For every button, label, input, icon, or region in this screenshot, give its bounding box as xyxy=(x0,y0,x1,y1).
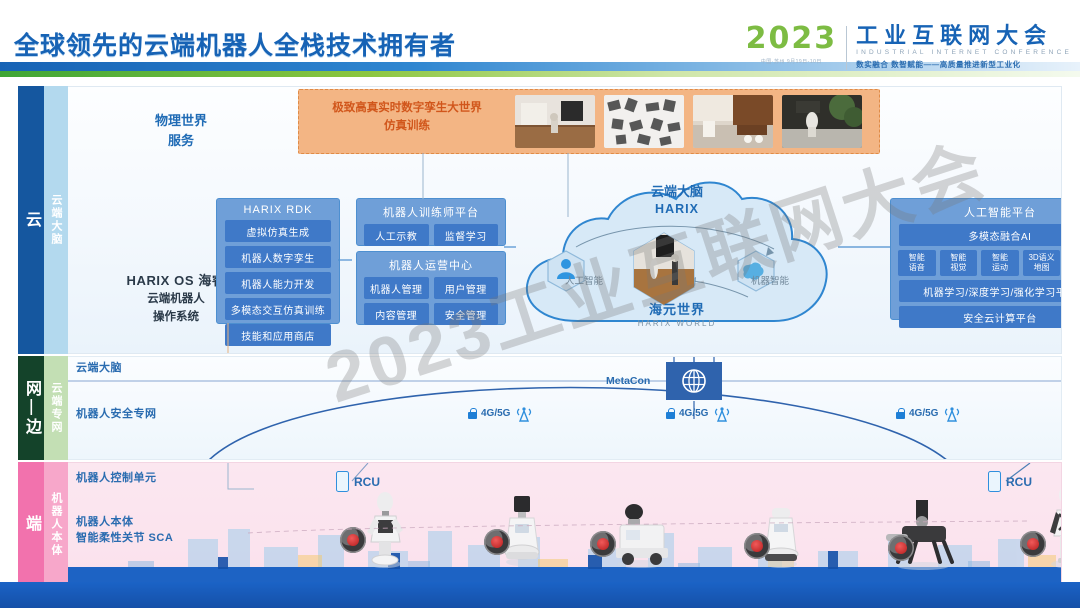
tier-edge-key: 端 xyxy=(18,462,44,586)
signal-label-2: 4G/5G xyxy=(909,408,938,419)
robot-patrol-2 xyxy=(606,502,676,573)
cloud-brain-title-en: HARIX xyxy=(516,201,838,218)
antenna-icon xyxy=(942,404,962,422)
conference-logo: 2023 中国·苏州 9月19日-10日 工业互联网大会 INDUSTRIAL … xyxy=(746,24,1072,76)
hex-label-ai: 人工智能 xyxy=(542,273,626,287)
logo-divider xyxy=(846,26,847,70)
slide-header: 全球领先的云端机器人全栈技术拥有者 2023 中国·苏州 9月19日-10日 工… xyxy=(0,0,1080,86)
sca-joint-1 xyxy=(484,529,510,555)
logo-year-subtitle: 中国·苏州 9月19日-10日 xyxy=(746,58,838,65)
ai-platform-multimodal[interactable]: 多模态融合AI xyxy=(899,224,1062,246)
tier-network-body: 云端大脑 机器人安全专网 MetaCon xyxy=(68,356,1062,460)
phone-icon xyxy=(988,471,1001,492)
ai-platform-cloud-compute[interactable]: 安全云计算平台 xyxy=(899,306,1062,328)
cloud-brain-title-cn: 云端大脑 xyxy=(516,183,838,201)
ai-module-2[interactable]: 智能 运动 xyxy=(981,250,1019,276)
architecture-diagram: 云 云端大脑 物理世界 服务 HARIX OS 海睿 云端机器人 操作系统 极致… xyxy=(18,86,1062,586)
robot-humanoid-0 xyxy=(358,490,412,573)
tier-network-key: 网—边 xyxy=(18,356,44,460)
sca-joint-2 xyxy=(590,531,616,557)
tier-edge-sub: 机器人本体 xyxy=(44,462,68,586)
slide-canvas: 全球领先的云端机器人全栈技术拥有者 2023 中国·苏州 9月19日-10日 工… xyxy=(0,0,1080,608)
robot-humanoid-5 xyxy=(1040,484,1062,573)
metacon-label: MetaCon xyxy=(606,375,650,387)
robot-figure xyxy=(358,490,412,568)
tier-edge-key-label: 端 xyxy=(19,515,43,534)
tier-network-key-label: 网—边 xyxy=(19,380,43,437)
signal-node-0: 4G/5G xyxy=(468,404,534,422)
robot-figure xyxy=(1040,484,1062,568)
antenna-icon xyxy=(514,404,534,422)
tier-cloud-body: 物理世界 服务 HARIX OS 海睿 云端机器人 操作系统 极致高真实时数字孪… xyxy=(68,86,1062,354)
tier-cloud: 云 云端大脑 物理世界 服务 HARIX OS 海睿 云端机器人 操作系统 极致… xyxy=(18,86,1062,354)
ai-platform-panel: 人工智能平台 多模态融合AI 智能 语音 智能 视觉 智能 运动 3D语义 地图… xyxy=(890,198,1062,320)
ai-module-1[interactable]: 智能 视觉 xyxy=(940,250,978,276)
sca-joint-3 xyxy=(744,533,770,559)
rcu-label-1: RCU xyxy=(1006,475,1032,489)
signal-node-2: 4G/5G xyxy=(896,404,962,422)
tier-network: 网—边 云端专网 云端大脑 机器人安全专网 MetaCon xyxy=(18,356,1062,460)
signal-label-1: 4G/5G xyxy=(679,408,708,419)
ai-module-0[interactable]: 智能 语音 xyxy=(898,250,936,276)
signal-label-0: 4G/5G xyxy=(481,408,510,419)
ai-platform-title: 人工智能平台 xyxy=(891,199,1062,224)
harix-world-en: HARIX WORLD xyxy=(602,319,752,328)
robot-figure xyxy=(606,502,676,568)
phone-icon xyxy=(336,471,349,492)
tier-edge: 端 机器人本体 机器人控制单元 机器人本体 智能柔性关节 SCA RCU RCU xyxy=(18,462,1062,586)
signal-node-1: 4G/5G xyxy=(666,404,732,422)
robot-figure xyxy=(498,494,546,566)
harix-world-name: 海元世界 HARIX WORLD xyxy=(602,299,752,328)
ai-module-3[interactable]: 3D语义 地图 xyxy=(1023,250,1061,276)
logo-year: 2023 xyxy=(746,24,838,54)
sca-joint-5 xyxy=(1020,531,1046,557)
tier-edge-sub-label: 机器人本体 xyxy=(48,492,64,557)
page-title: 全球领先的云端机器人全栈技术拥有者 xyxy=(14,26,456,62)
lock-icon xyxy=(666,408,675,419)
logo-conference-name: 工业互联网大会 xyxy=(856,24,1072,47)
rcu-node-1: RCU xyxy=(988,471,1032,492)
rcu-node-0: RCU xyxy=(336,471,380,492)
sca-joint-4 xyxy=(888,535,914,561)
metacon-node[interactable] xyxy=(666,362,722,400)
globe-icon xyxy=(681,368,707,394)
antenna-icon xyxy=(712,404,732,422)
harix-world-cn: 海元世界 xyxy=(602,299,752,318)
tier-cloud-key: 云 xyxy=(18,86,44,354)
logo-tagline: 数实融合 数智赋能——高质量推进新型工业化 xyxy=(856,59,1072,70)
rcu-label-0: RCU xyxy=(354,475,380,489)
cloud-brain-graphic: 云端大脑 HARIX 人工智能 机器智能 海元世界 HARIX WORLD xyxy=(516,169,838,337)
tier-network-sub-label: 云端专网 xyxy=(48,382,64,434)
lock-icon xyxy=(896,408,905,419)
tier-cloud-sub: 云端大脑 xyxy=(44,86,68,354)
hex-label-machine-intelligence: 机器智能 xyxy=(728,273,812,287)
lock-icon xyxy=(468,408,477,419)
cloud-brain-title: 云端大脑 HARIX xyxy=(516,183,838,217)
ai-platform-learning[interactable]: 机器学习/深度学习/强化学习平台 xyxy=(899,280,1062,302)
logo-conference-name-en: INDUSTRIAL INTERNET CONFERENCE xyxy=(856,49,1072,56)
tier-cloud-sub-label: 云端大脑 xyxy=(48,194,64,246)
tier-edge-body: 机器人控制单元 机器人本体 智能柔性关节 SCA RCU RCU xyxy=(68,462,1062,586)
tier-cloud-key-label: 云 xyxy=(19,211,43,230)
sca-joint-0 xyxy=(340,527,366,553)
tier-network-sub: 云端专网 xyxy=(44,356,68,460)
bottom-strip xyxy=(0,582,1080,608)
robot-control-unit-label: 机器人控制单元 xyxy=(76,469,157,485)
